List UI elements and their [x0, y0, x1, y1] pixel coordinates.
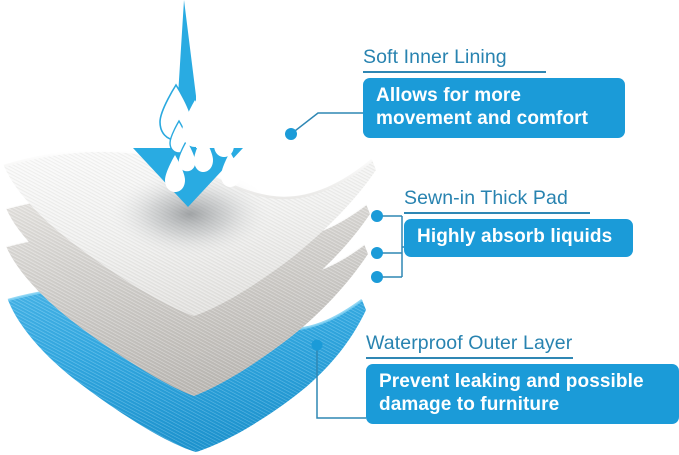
callout-text-line: Highly absorb liquids [417, 226, 622, 248]
connector-dot-layer-2c [371, 271, 383, 283]
callout-box-sewn-in-thick-pad: Highly absorb liquids [404, 219, 633, 256]
infographic-canvas: Soft Inner Lining Allows for more moveme… [0, 0, 679, 455]
callout-heading-waterproof-outer-layer: Waterproof Outer Layer [366, 333, 679, 353]
water-droplets [160, 43, 240, 192]
callout-box-soft-inner-lining: Allows for more movement and comfort [363, 78, 625, 137]
callout-rule-soft-inner-lining [363, 71, 546, 73]
connector-dot-layer-2a [371, 210, 383, 222]
callout-waterproof-outer-layer: Waterproof Outer Layer Prevent leaking a… [366, 333, 679, 424]
callout-text-line: damage to furniture [379, 394, 668, 416]
callout-rule-sewn-in-thick-pad [404, 212, 590, 214]
callout-sewn-in-thick-pad: Sewn-in Thick Pad Highly absorb liquids [404, 188, 633, 257]
callout-soft-inner-lining: Soft Inner Lining Allows for more moveme… [363, 47, 625, 138]
callout-text-line: Prevent leaking and possible [379, 371, 668, 393]
callout-rule-waterproof-outer-layer [366, 357, 573, 359]
connector-soft-inner-lining [285, 113, 366, 140]
callout-heading-sewn-in-thick-pad: Sewn-in Thick Pad [404, 188, 633, 208]
callout-text-line: Allows for more [376, 85, 614, 107]
connector-dot-layer-4 [312, 340, 323, 351]
connector-dot-layer-2b [371, 247, 383, 259]
connector-dot-layer-1 [285, 128, 297, 140]
callout-text-line: movement and comfort [376, 108, 614, 130]
callout-heading-soft-inner-lining: Soft Inner Lining [363, 47, 625, 67]
callout-box-waterproof-outer-layer: Prevent leaking and possible damage to f… [366, 364, 679, 423]
